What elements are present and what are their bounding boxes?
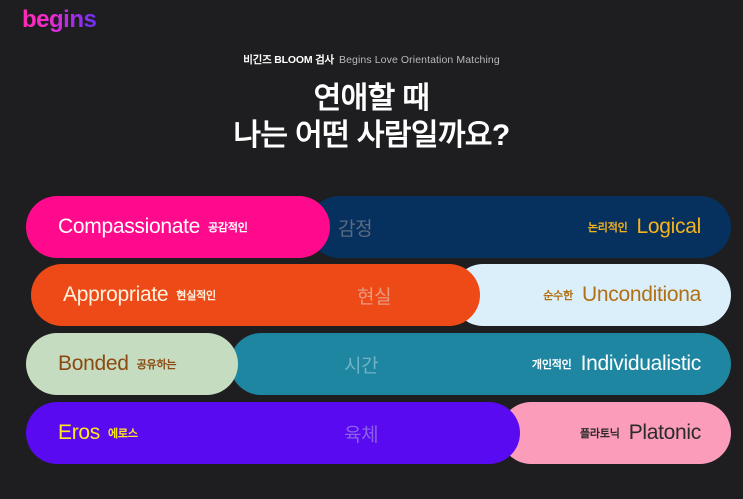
trait-term-right: Individualistic [581, 352, 701, 376]
trait-sub-left: 공유하는 [137, 356, 177, 372]
page-title: 연애할 때 나는 어떤 사람일까요? [0, 80, 743, 154]
trait-sub-left: 에로스 [108, 425, 138, 441]
trait-sub-right: 순수한 [543, 287, 573, 303]
trait-term-right: Logical [637, 215, 701, 239]
spectrum-row: Eros 에로스 플라토닉 Platonic 육체 [0, 402, 743, 464]
trait-pill-right[interactable]: 순수한 Unconditiona [452, 264, 731, 326]
trait-sub-left: 공감적인 [208, 219, 248, 235]
begins-logo[interactable]: begins [22, 6, 96, 34]
spectrum-row: Appropriate 현실적인 순수한 Unconditiona 현실 [0, 264, 743, 326]
trait-term-left: Bonded [58, 352, 129, 376]
trait-pill-left[interactable]: Bonded 공유하는 [26, 333, 238, 395]
trait-sub-right: 개인적인 [532, 356, 572, 372]
trait-sub-left: 현실적인 [176, 287, 216, 303]
eyebrow-english: Begins Love Orientation Matching [339, 54, 500, 66]
trait-term-left: Compassionate [58, 215, 200, 239]
trait-sub-right: 논리적인 [588, 219, 628, 235]
spectrum-row: Compassionate 공감적인 논리적인 Logical 감정 [0, 196, 743, 258]
trait-sub-right: 플라토닉 [580, 425, 620, 441]
trait-pill-left[interactable]: Appropriate 현실적인 [31, 264, 480, 326]
title-line-1: 연애할 때 [0, 80, 743, 117]
trait-term-right: Platonic [629, 421, 701, 445]
trait-term-left: Appropriate [63, 283, 168, 307]
title-line-2: 나는 어떤 사람일까요? [0, 117, 743, 154]
trait-term-left: Eros [58, 421, 100, 445]
eyebrow: 비긴즈 BLOOM 검사Begins Love Orientation Matc… [0, 53, 743, 67]
trait-pill-right[interactable]: 논리적인 Logical [308, 196, 731, 258]
trait-pill-left[interactable]: Compassionate 공감적인 [26, 196, 330, 258]
trait-spectrum-chart: Compassionate 공감적인 논리적인 Logical 감정 Appro… [0, 196, 743, 476]
trait-pill-right[interactable]: 개인적인 Individualistic [230, 333, 731, 395]
trait-pill-left[interactable]: Eros 에로스 [26, 402, 520, 464]
eyebrow-korean: 비긴즈 BLOOM 검사 [243, 54, 334, 66]
trait-term-right: Unconditiona [582, 283, 701, 307]
spectrum-row: Bonded 공유하는 개인적인 Individualistic 시간 [0, 333, 743, 395]
trait-pill-right[interactable]: 플라토닉 Platonic [500, 402, 731, 464]
